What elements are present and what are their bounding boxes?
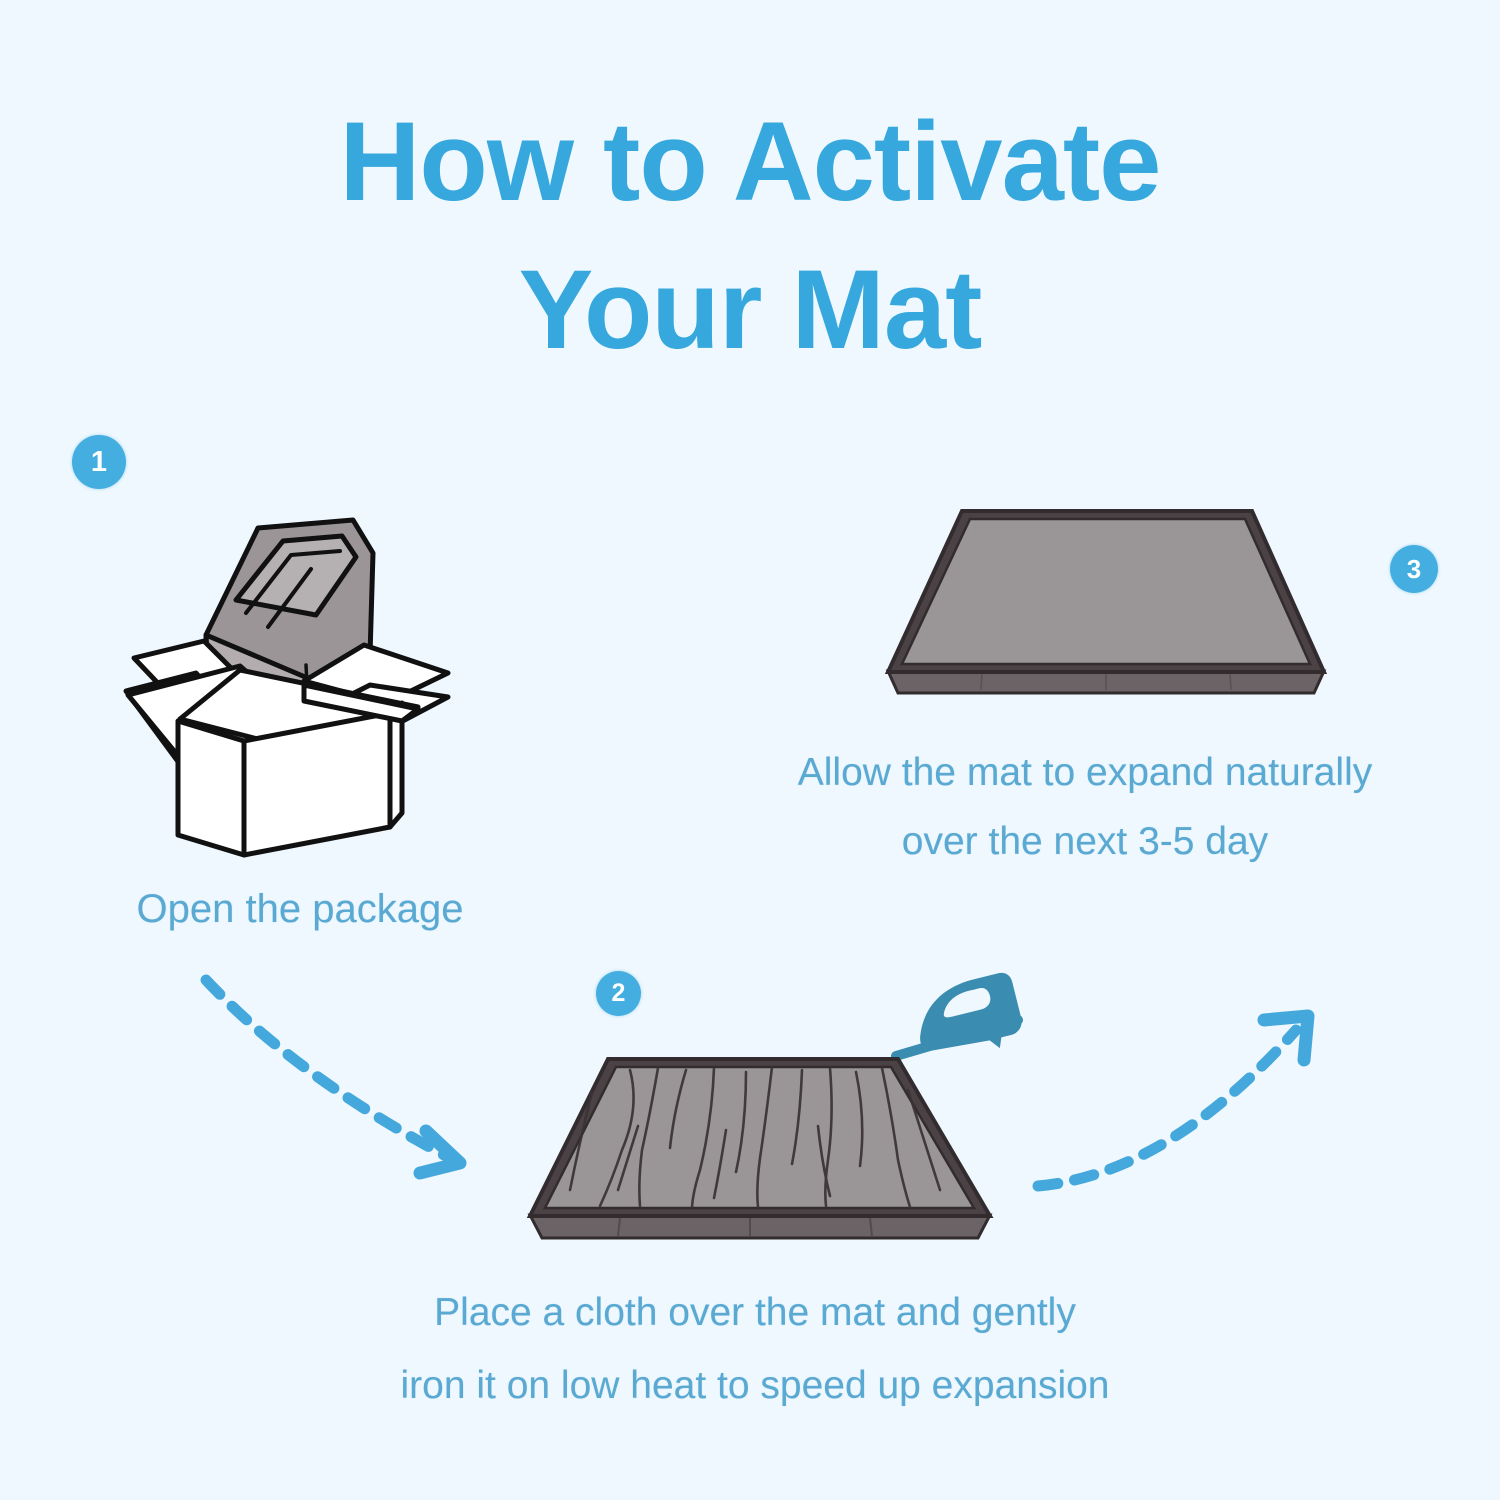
step-2-caption: Place a cloth over the mat and gently ir… — [250, 1285, 1260, 1430]
wrinkled-mat-illustration — [500, 1030, 1020, 1280]
step-3-caption: Allow the mat to expand naturally over t… — [690, 745, 1480, 882]
step-1-caption-line-1: Open the package — [137, 887, 464, 931]
step-3-caption-line-1: Allow the mat to expand naturally — [690, 745, 1480, 802]
page-title: How to Activate Your Mat — [0, 88, 1500, 384]
title-line-1: How to Activate — [0, 88, 1500, 236]
dashed-arrow-up-right-icon — [1008, 988, 1343, 1223]
step-2-caption-line-1: Place a cloth over the mat and gently — [250, 1285, 1260, 1342]
dashed-arrow-down-right-icon — [168, 958, 503, 1203]
title-line-2: Your Mat — [0, 236, 1500, 384]
step-badge-2: 2 — [596, 971, 641, 1016]
open-box-illustration — [118, 495, 498, 860]
step-3-caption-line-2: over the next 3-5 day — [690, 814, 1480, 871]
infographic-canvas: How to Activate Your Mat 1 — [0, 0, 1500, 1500]
step-badge-3: 3 — [1390, 545, 1438, 593]
step-badge-1: 1 — [72, 435, 126, 489]
expanded-mat-illustration — [862, 485, 1362, 710]
step-2-caption-line-2: iron it on low heat to speed up expansio… — [250, 1358, 1260, 1415]
step-1-caption: Open the package — [40, 880, 560, 938]
